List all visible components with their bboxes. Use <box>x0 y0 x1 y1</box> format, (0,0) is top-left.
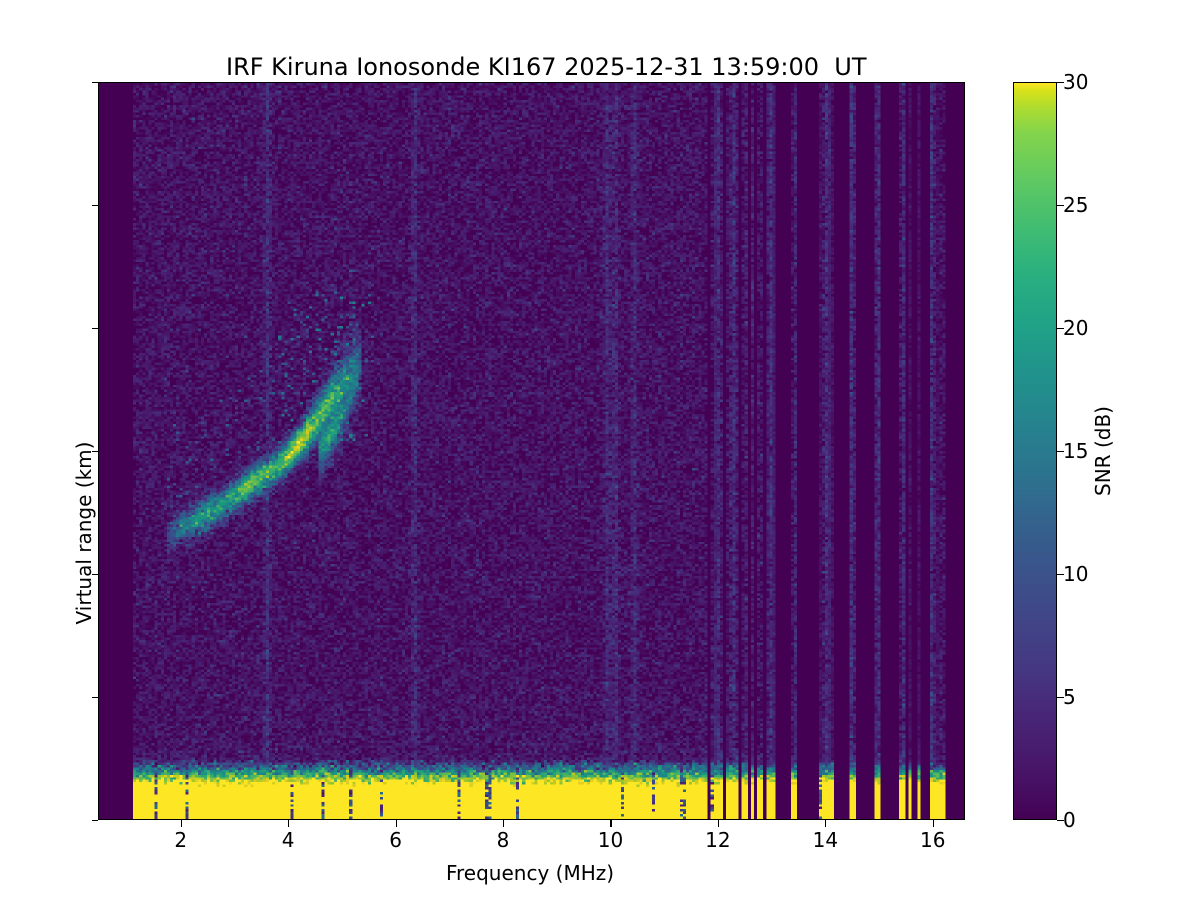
colorbar-tick-label-0: 0 <box>1063 808 1076 832</box>
colorbar <box>1013 82 1057 820</box>
x-tick-mark <box>933 820 934 827</box>
x-tick-label-4: 4 <box>282 828 295 852</box>
colorbar-tick-mark <box>1057 205 1064 206</box>
colorbar-tick-mark <box>1057 328 1064 329</box>
ionogram-canvas <box>99 83 964 819</box>
x-tick-mark <box>610 820 611 827</box>
ionogram-heatmap <box>99 83 964 819</box>
x-tick-mark <box>396 820 397 827</box>
x-tick-label-6: 6 <box>389 828 402 852</box>
x-tick-label-8: 8 <box>497 828 510 852</box>
colorbar-tick-mark <box>1057 574 1064 575</box>
y-tick-mark <box>92 82 99 83</box>
colorbar-tick-label-10: 10 <box>1063 562 1088 586</box>
x-tick-label-14: 14 <box>813 828 838 852</box>
colorbar-tick-mark <box>1057 451 1064 452</box>
y-tick-mark <box>92 574 99 575</box>
x-tick-mark <box>181 820 182 827</box>
y-tick-mark <box>92 697 99 698</box>
x-tick-mark <box>718 820 719 827</box>
x-axis-label: Frequency (MHz) <box>446 861 614 885</box>
y-axis-label: Virtual range (km) <box>72 442 96 625</box>
colorbar-label: SNR (dB) <box>1091 406 1115 496</box>
ionogram-figure: IRF Kiruna Ionosonde KI167 2025-12-31 13… <box>0 0 1200 900</box>
colorbar-tick-mark <box>1057 820 1064 821</box>
colorbar-tick-label-5: 5 <box>1063 685 1076 709</box>
x-tick-mark <box>288 820 289 827</box>
x-tick-mark <box>503 820 504 827</box>
plot-axes <box>98 82 965 820</box>
x-tick-mark <box>825 820 826 827</box>
x-tick-label-10: 10 <box>598 828 623 852</box>
colorbar-tick-mark <box>1057 82 1064 83</box>
colorbar-tick-mark <box>1057 697 1064 698</box>
y-tick-mark <box>92 205 99 206</box>
colorbar-tick-label-30: 30 <box>1063 70 1088 94</box>
x-tick-label-2: 2 <box>174 828 187 852</box>
y-tick-mark <box>92 451 99 452</box>
colorbar-tick-label-15: 15 <box>1063 439 1088 463</box>
x-tick-label-16: 16 <box>920 828 945 852</box>
colorbar-tick-label-20: 20 <box>1063 316 1088 340</box>
title-line-1: IRF Kiruna Ionosonde KI167 2025-12-31 13… <box>226 53 867 81</box>
y-tick-mark <box>92 820 99 821</box>
y-tick-mark <box>92 328 99 329</box>
x-tick-label-12: 12 <box>705 828 730 852</box>
colorbar-tick-label-25: 25 <box>1063 193 1088 217</box>
